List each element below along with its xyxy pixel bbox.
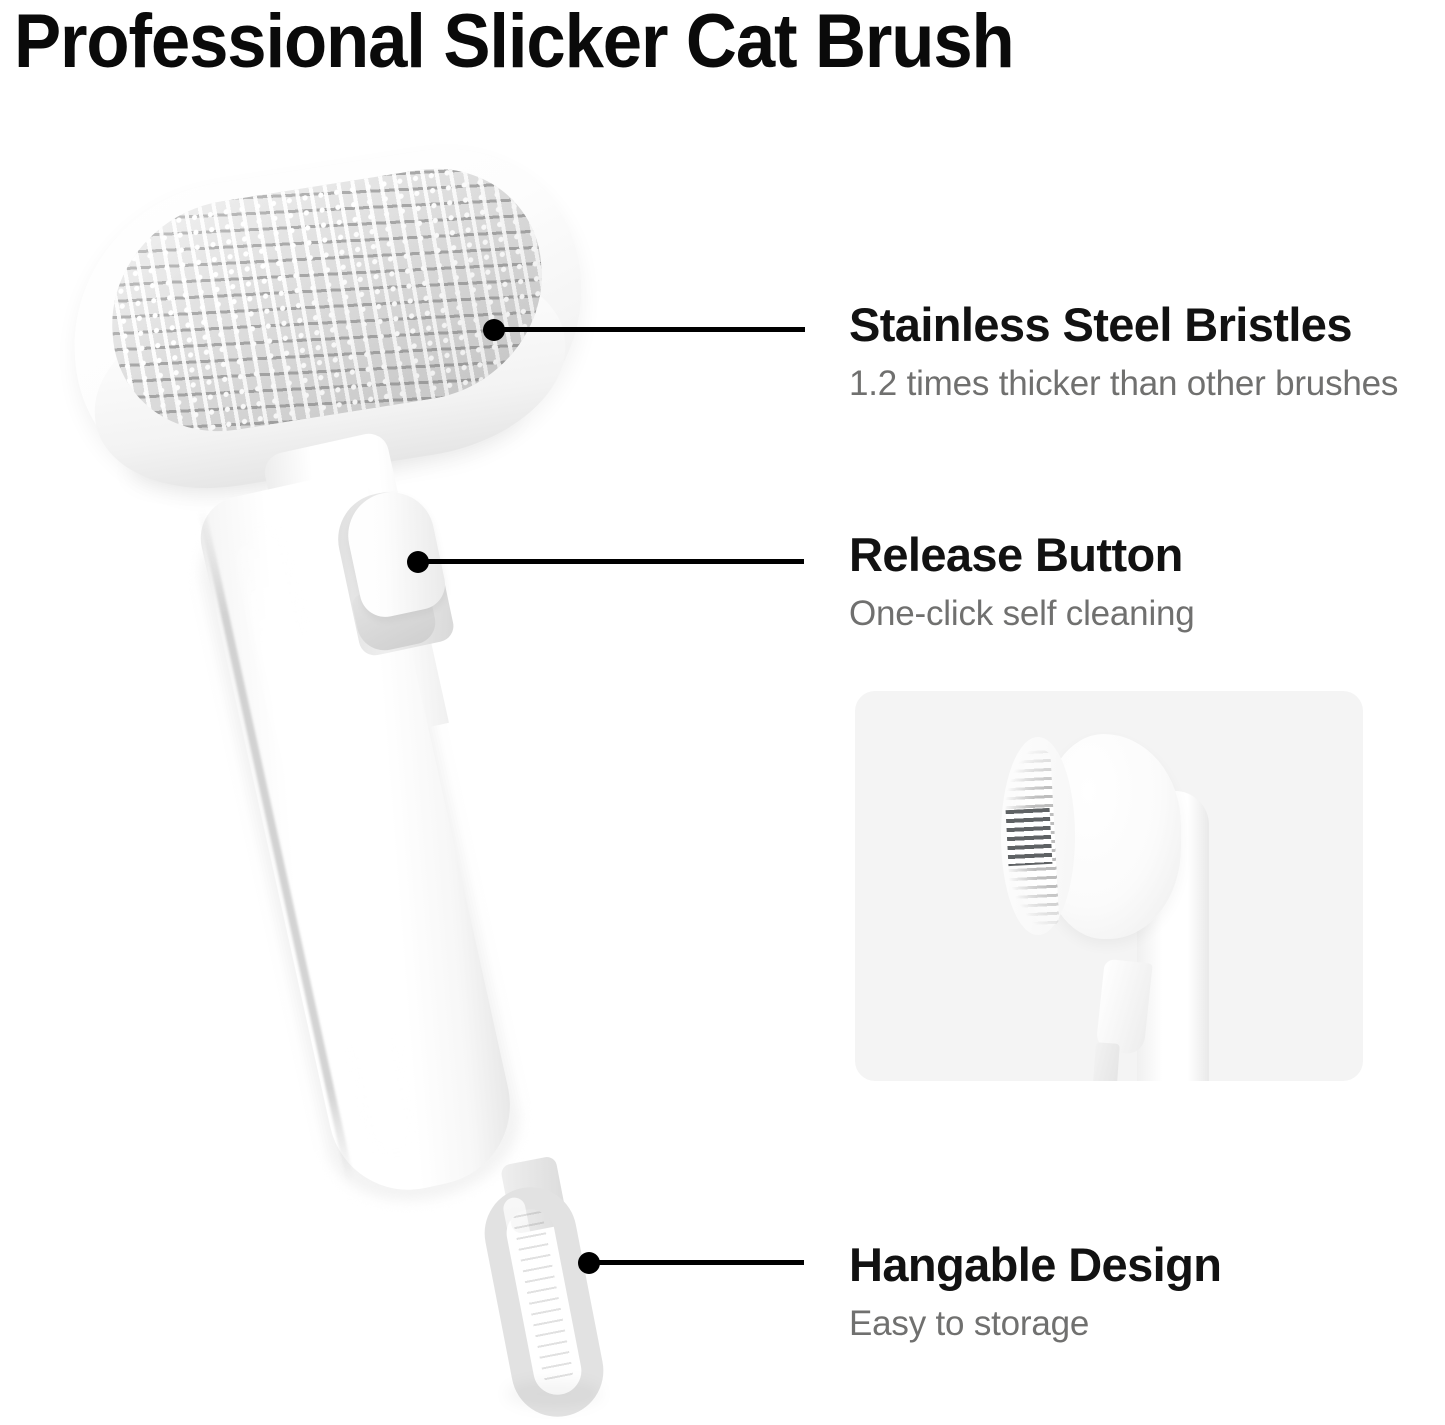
leader-line-hang — [587, 1260, 804, 1265]
callout-release: Release Button One-click self cleaning — [849, 528, 1195, 635]
leader-line-bristles — [492, 327, 805, 332]
leader-dot-hang — [578, 1252, 600, 1274]
leader-dot-release — [407, 551, 429, 573]
callout-hang: Hangable Design Easy to storage — [849, 1238, 1221, 1345]
leader-dot-bristles — [483, 319, 505, 341]
callout-release-subtitle: One-click self cleaning — [849, 593, 1195, 635]
product-infographic: Professional Slicker Cat Brush — [0, 0, 1445, 1425]
inset-release-tab — [1090, 1042, 1120, 1081]
callout-bristles-subtitle: 1.2 times thicker than other brushes — [849, 363, 1398, 405]
callout-hang-subtitle: Easy to storage — [849, 1303, 1221, 1345]
callout-release-title: Release Button — [849, 528, 1195, 582]
product-image — [0, 0, 860, 1425]
inset-retracted-bristles-shadow — [1006, 808, 1053, 866]
callout-bristles: Stainless Steel Bristles 1.2 times thick… — [849, 298, 1398, 405]
inset-detail-panel — [855, 691, 1363, 1081]
inset-neck — [1095, 959, 1152, 1056]
leader-line-release — [416, 559, 804, 564]
callout-bristles-title: Stainless Steel Bristles — [849, 298, 1398, 352]
hanging-loop-shadow — [506, 1380, 602, 1408]
callout-hang-title: Hangable Design — [849, 1238, 1221, 1292]
